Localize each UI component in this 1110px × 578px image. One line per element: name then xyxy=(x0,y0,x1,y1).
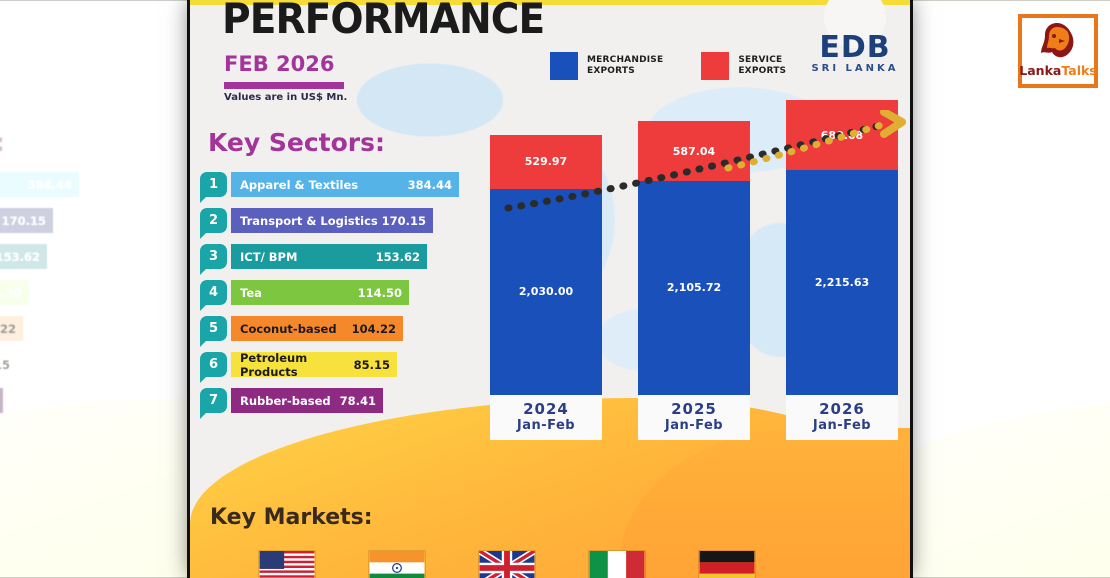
sector-row: 6Petroleum Products85.15 xyxy=(0,348,80,381)
key-sectors-title: Key Sectors: xyxy=(208,128,385,157)
sector-value: 153.62 xyxy=(0,250,40,264)
sector-value: 85.15 xyxy=(0,358,10,372)
world-map-backdrop-right xyxy=(960,40,1110,420)
legend-label-service-line2: EXPORTS xyxy=(738,66,786,77)
sector-rank-badge: 7 xyxy=(200,388,227,413)
bar-segment-service: 587.04 xyxy=(638,121,750,181)
page-subtitle-period: FEB 2026 xyxy=(224,52,334,76)
sector-rank-badge: 4 xyxy=(200,280,227,305)
sector-bar: Petroleum Products85.15 xyxy=(0,352,17,377)
lankatalks-watermark: LankaTalks xyxy=(1018,14,1098,88)
sector-value: 170.15 xyxy=(382,214,426,228)
sector-bar: Rubber-based78.41 xyxy=(231,388,383,413)
watermark-text-lanka: Lanka xyxy=(1019,63,1061,78)
page-title: PERFORMANCE xyxy=(222,0,544,43)
sector-row: 2Transport & Logistics170.15 xyxy=(200,204,460,237)
sector-bar: Rubber-based78.41 xyxy=(0,388,3,413)
sector-row: 6Petroleum Products85.15 xyxy=(200,348,460,381)
sector-rank-badge: 2 xyxy=(200,208,227,233)
infographic-main-panel: PERFORMANCE FEB 2026 Values are in US$ M… xyxy=(190,0,910,578)
lion-head-icon xyxy=(1035,20,1081,62)
sector-rank-badge: 1 xyxy=(200,172,227,197)
chart-x-label: 2026Jan-Feb xyxy=(786,395,898,440)
sector-row: 7Rubber-based78.41 xyxy=(0,384,80,417)
flag-germany-icon xyxy=(698,550,756,578)
flag-united-kingdom-icon xyxy=(478,550,536,578)
sector-row: 2Transport & Logistics170.15 xyxy=(0,204,80,237)
sector-bar: Coconut-based104.22 xyxy=(0,316,23,341)
title-underline xyxy=(224,82,344,89)
sector-value: 114.50 xyxy=(358,286,402,300)
chart-x-label-month: Jan-Feb xyxy=(638,418,750,433)
sector-bar: ICT/ BPM153.62 xyxy=(231,244,427,269)
key-markets-flags xyxy=(258,550,756,578)
sector-row: 4Tea114.50 xyxy=(0,276,80,309)
bar-segment-merchandise: 2,030.00 xyxy=(490,189,602,395)
screenshot-stage: Values are in US$ Mn. Key Sectors: 1Appa… xyxy=(0,0,1110,578)
sector-bar: Coconut-based104.22 xyxy=(231,316,403,341)
sector-bar: Apparel & Textiles384.44 xyxy=(0,172,79,197)
chart-x-label: 2025Jan-Feb xyxy=(638,395,750,440)
legend-label-service-line1: SERVICE xyxy=(738,55,786,66)
sector-name: Petroleum Products xyxy=(240,351,354,379)
bar-segment-service: 529.97 xyxy=(490,135,602,189)
sector-row: 3ICT/ BPM153.62 xyxy=(0,240,80,273)
sector-value: 104.22 xyxy=(352,322,396,336)
sector-bar: Petroleum Products85.15 xyxy=(231,352,397,377)
sector-rank-badge: 5 xyxy=(200,316,227,341)
sector-value: 104.22 xyxy=(0,322,16,336)
sector-row: 3ICT/ BPM153.62 xyxy=(200,240,460,273)
legend-swatch-service xyxy=(701,52,729,80)
key-sectors-list-left: 1Apparel & Textiles384.442Transport & Lo… xyxy=(0,168,80,420)
sector-row: 5Coconut-based104.22 xyxy=(200,312,460,345)
legend-item-service: SERVICE EXPORTS xyxy=(701,52,786,80)
legend-item-merchandise: MERCHANDISE EXPORTS xyxy=(550,52,663,80)
sector-value: 114.50 xyxy=(0,286,22,300)
sector-row: 4Tea114.50 xyxy=(200,276,460,309)
edb-logo-word: EDB xyxy=(785,34,910,61)
sector-name: ICT/ BPM xyxy=(240,250,297,264)
sector-row: 7Rubber-based78.41 xyxy=(200,384,460,417)
sector-name: Rubber-based xyxy=(240,394,331,408)
chart-legend: MERCHANDISE EXPORTS SERVICE EXPORTS xyxy=(550,52,786,80)
sector-row: 1Apparel & Textiles384.44 xyxy=(200,168,460,201)
sector-bar: Transport & Logistics170.15 xyxy=(231,208,433,233)
edb-logo: EDB SRI LANKA xyxy=(785,0,910,74)
chart-x-label-year: 2026 xyxy=(786,400,898,418)
bar-segment-merchandise: 2,105.72 xyxy=(638,181,750,395)
key-sectors-list: 1Apparel & Textiles384.442Transport & Lo… xyxy=(200,168,460,420)
sector-value: 85.15 xyxy=(354,358,390,372)
key-sectors-title-left: Key Sectors: xyxy=(0,128,5,157)
export-performance-chart: 529.972,030.002024Jan-Feb587.042,105.722… xyxy=(490,110,910,440)
chart-column: 529.972,030.002024Jan-Feb xyxy=(490,135,602,440)
chart-x-label-month: Jan-Feb xyxy=(490,418,602,433)
legend-swatch-merchandise xyxy=(550,52,578,80)
chart-column: 680.682,215.632026Jan-Feb xyxy=(786,100,898,440)
sector-bar: Transport & Logistics170.15 xyxy=(0,208,53,233)
watermark-text-talks: Talks xyxy=(1061,63,1096,78)
chart-x-label-year: 2025 xyxy=(638,400,750,418)
values-unit-note: Values are in US$ Mn. xyxy=(224,92,347,103)
chart-x-label-month: Jan-Feb xyxy=(786,418,898,433)
legend-label-merchandise-line2: EXPORTS xyxy=(587,66,663,77)
flag-italy-icon xyxy=(588,550,646,578)
sector-name: Transport & Logistics xyxy=(240,214,378,228)
sector-name: Coconut-based xyxy=(240,322,337,336)
sector-value: 153.62 xyxy=(376,250,420,264)
sector-bar: Tea114.50 xyxy=(0,280,29,305)
edb-logo-country: SRI LANKA xyxy=(785,63,910,74)
sector-rank-badge: 3 xyxy=(200,244,227,269)
sector-bar: Tea114.50 xyxy=(231,280,409,305)
sector-value: 384.44 xyxy=(408,178,452,192)
sector-rank-badge: 6 xyxy=(200,352,227,377)
sector-value: 78.41 xyxy=(340,394,376,408)
sector-name: Tea xyxy=(240,286,262,300)
bar-segment-merchandise: 2,215.63 xyxy=(786,170,898,395)
chart-x-label: 2024Jan-Feb xyxy=(490,395,602,440)
flag-india-icon xyxy=(368,550,426,578)
chart-column: 587.042,105.722025Jan-Feb xyxy=(638,121,750,440)
sector-bar: Apparel & Textiles384.44 xyxy=(231,172,459,197)
chart-x-label-year: 2024 xyxy=(490,400,602,418)
key-markets-title: Key Markets: xyxy=(210,505,373,530)
flag-united-states-icon xyxy=(258,550,316,578)
sector-bar: ICT/ BPM153.62 xyxy=(0,244,47,269)
sector-row: 5Coconut-based104.22 xyxy=(0,312,80,345)
sector-name: Apparel & Textiles xyxy=(240,178,358,192)
legend-label-merchandise-line1: MERCHANDISE xyxy=(587,55,663,66)
sector-row: 1Apparel & Textiles384.44 xyxy=(0,168,80,201)
sector-value: 384.44 xyxy=(28,178,72,192)
bar-segment-service: 680.68 xyxy=(786,100,898,169)
sector-value: 170.15 xyxy=(2,214,46,228)
